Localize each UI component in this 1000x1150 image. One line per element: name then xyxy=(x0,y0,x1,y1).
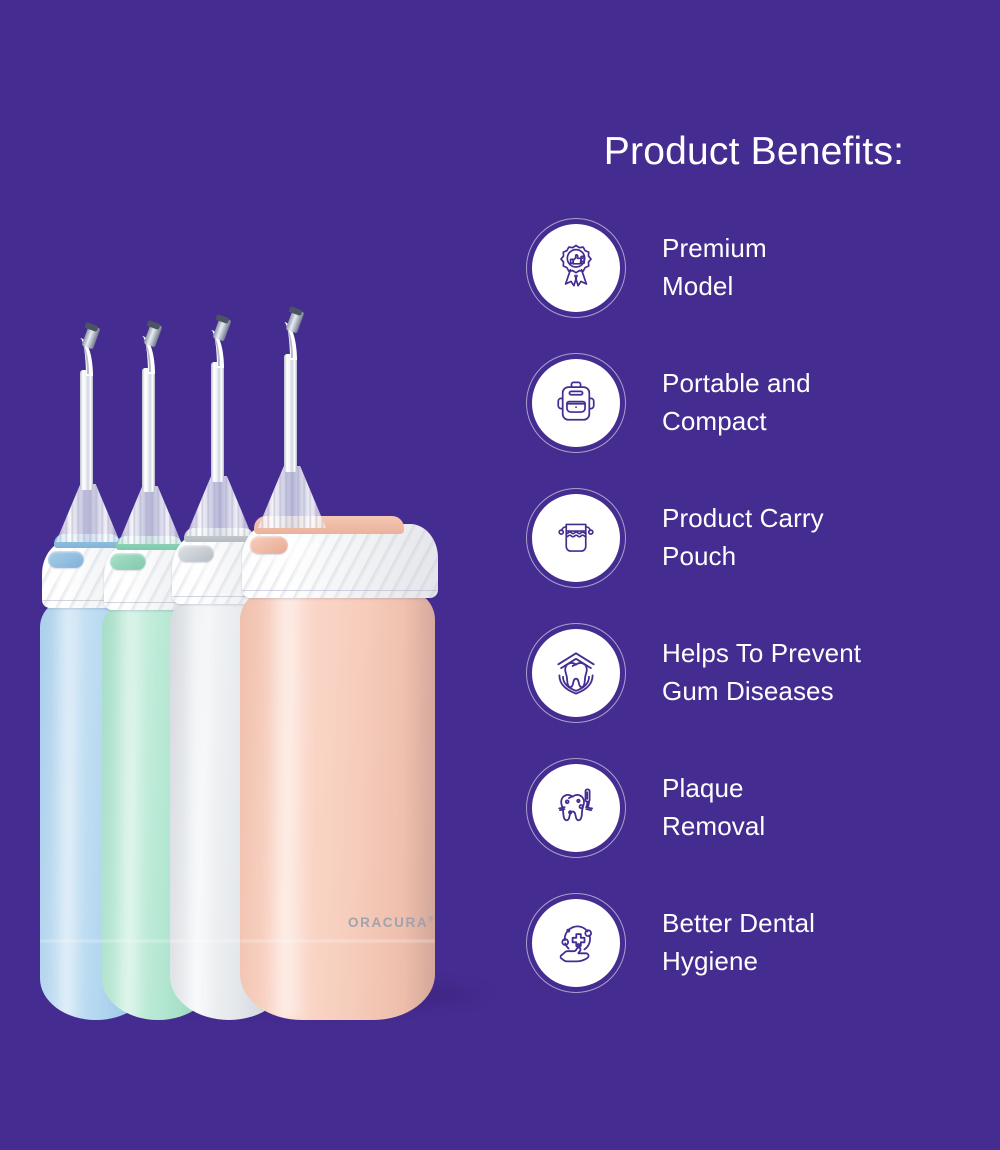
panel-title: Product Benefits: xyxy=(534,130,974,174)
brand-wordmark: ORACURA® xyxy=(348,915,433,930)
benefit-label-line1: Plaque xyxy=(662,770,765,808)
icon-disc xyxy=(532,224,620,312)
benefit-icon-slot xyxy=(520,347,632,459)
benefit-item-plaque-removal: Plaque Removal xyxy=(520,753,990,863)
product-photo-group: ORACURA® xyxy=(40,290,490,1020)
drawstring-pouch-icon xyxy=(550,512,602,564)
infographic-canvas: ORACURA® Product Benefits: xyxy=(0,0,1000,1150)
icon-disc xyxy=(532,764,620,852)
benefit-item-prevent-gum-disease: Helps To Prevent Gum Diseases xyxy=(520,618,990,728)
skirt-ribs xyxy=(258,466,326,528)
benefit-item-dental-hygiene: Better Dental Hygiene xyxy=(520,888,990,998)
benefit-label: Product Carry Pouch xyxy=(662,500,824,575)
icon-disc xyxy=(532,899,620,987)
icon-disc xyxy=(532,494,620,582)
gloss-highlight xyxy=(56,600,81,1020)
benefit-item-premium-model: Premium Model xyxy=(520,213,990,323)
benefit-label: Premium Model xyxy=(662,230,767,305)
nozzle-release-button[interactable] xyxy=(250,536,288,554)
tooth-shield-icon xyxy=(548,645,604,701)
benefit-label-line1: Better Dental xyxy=(662,905,815,943)
benefit-icon-slot xyxy=(520,482,632,594)
nozzle-skirt xyxy=(258,466,326,528)
nozzle-release-button[interactable] xyxy=(110,553,146,570)
benefit-icon-slot xyxy=(520,212,632,324)
benefit-label: Plaque Removal xyxy=(662,770,765,845)
benefit-label-line2: Gum Diseases xyxy=(662,673,861,711)
lid-seam xyxy=(242,590,438,592)
benefit-label-line2: Hygiene xyxy=(662,943,815,981)
benefit-label-line2: Compact xyxy=(662,403,811,441)
award-ribbon-icon xyxy=(548,240,604,296)
tooth-scaler-icon xyxy=(548,780,604,836)
product-benefits-panel: Product Benefits: xyxy=(520,130,990,1030)
nozzle-stem xyxy=(80,370,93,490)
benefit-item-portable-compact: Portable and Compact xyxy=(520,348,990,458)
backpack-icon xyxy=(549,376,603,430)
water-level-line xyxy=(240,940,435,942)
benefit-label: Helps To Prevent Gum Diseases xyxy=(662,635,861,710)
gloss-highlight xyxy=(187,596,213,1020)
nozzle-stem xyxy=(284,354,297,472)
benefit-label-line1: Product Carry xyxy=(662,500,824,538)
product-variant-pink: ORACURA® xyxy=(240,302,450,1020)
benefit-label: Better Dental Hygiene xyxy=(662,905,815,980)
benefit-icon-slot xyxy=(520,887,632,999)
gloss-highlight xyxy=(267,590,310,1020)
benefit-icon-slot xyxy=(520,752,632,864)
gloss-highlight xyxy=(118,602,143,1020)
benefit-label-line2: Removal xyxy=(662,808,765,846)
icon-disc xyxy=(532,359,620,447)
nozzle-release-button[interactable] xyxy=(48,551,84,568)
benefit-label-line1: Portable and xyxy=(662,365,811,403)
hand-health-cross-icon xyxy=(548,915,604,971)
benefit-label: Portable and Compact xyxy=(662,365,811,440)
benefit-label-line1: Premium xyxy=(662,230,767,268)
nozzle-stem xyxy=(211,362,224,482)
nozzle-release-button[interactable] xyxy=(178,545,214,562)
body-edge-shade xyxy=(404,590,435,1020)
icon-disc xyxy=(532,629,620,717)
benefit-label-line1: Helps To Prevent xyxy=(662,635,861,673)
nozzle-stem xyxy=(142,368,155,492)
benefit-item-carry-pouch: Product Carry Pouch xyxy=(520,483,990,593)
tank-body: ORACURA® xyxy=(240,590,435,1020)
benefit-label-line2: Model xyxy=(662,268,767,306)
benefit-icon-slot xyxy=(520,617,632,729)
benefit-label-line2: Pouch xyxy=(662,538,824,576)
